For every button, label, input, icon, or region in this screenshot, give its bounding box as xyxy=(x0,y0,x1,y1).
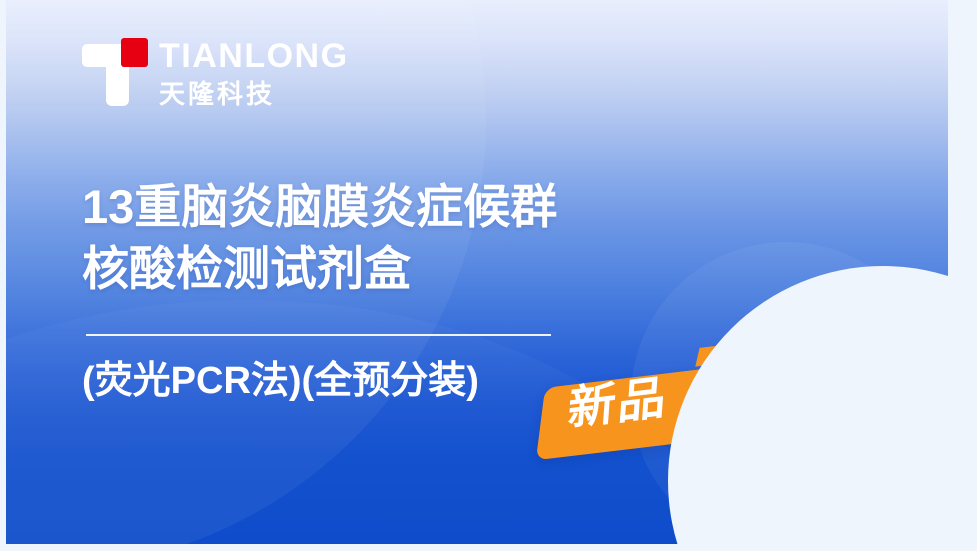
page-title-line-2: 核酸检测试剂盒 xyxy=(82,238,557,300)
brand-name-cn: 天隆科技 xyxy=(159,81,349,107)
title-divider xyxy=(86,334,551,336)
tianlong-t-mark-icon xyxy=(82,38,148,106)
brand-name-en: TIANLONG xyxy=(159,39,349,73)
brand-logo: TIANLONG 天隆科技 xyxy=(82,38,349,107)
page-title: 13重脑炎脑膜炎症候群 核酸检测试剂盒 xyxy=(82,176,557,300)
banner-blue-panel: TIANLONG 天隆科技 13重脑炎脑膜炎症候群 核酸检测试剂盒 (荧光PCR… xyxy=(6,0,948,544)
page-subtitle: (荧光PCR法)(全预分装) xyxy=(82,358,479,406)
t-mark-red-square xyxy=(121,38,148,67)
badge-plate-label: 新品 xyxy=(567,373,670,432)
product-launch-banner: TIANLONG 天隆科技 13重脑炎脑膜炎症候群 核酸检测试剂盒 (荧光PCR… xyxy=(0,0,977,551)
brand-wordmark: TIANLONG 天隆科技 xyxy=(159,38,349,107)
page-title-line-1: 13重脑炎脑膜炎症候群 xyxy=(82,176,557,238)
